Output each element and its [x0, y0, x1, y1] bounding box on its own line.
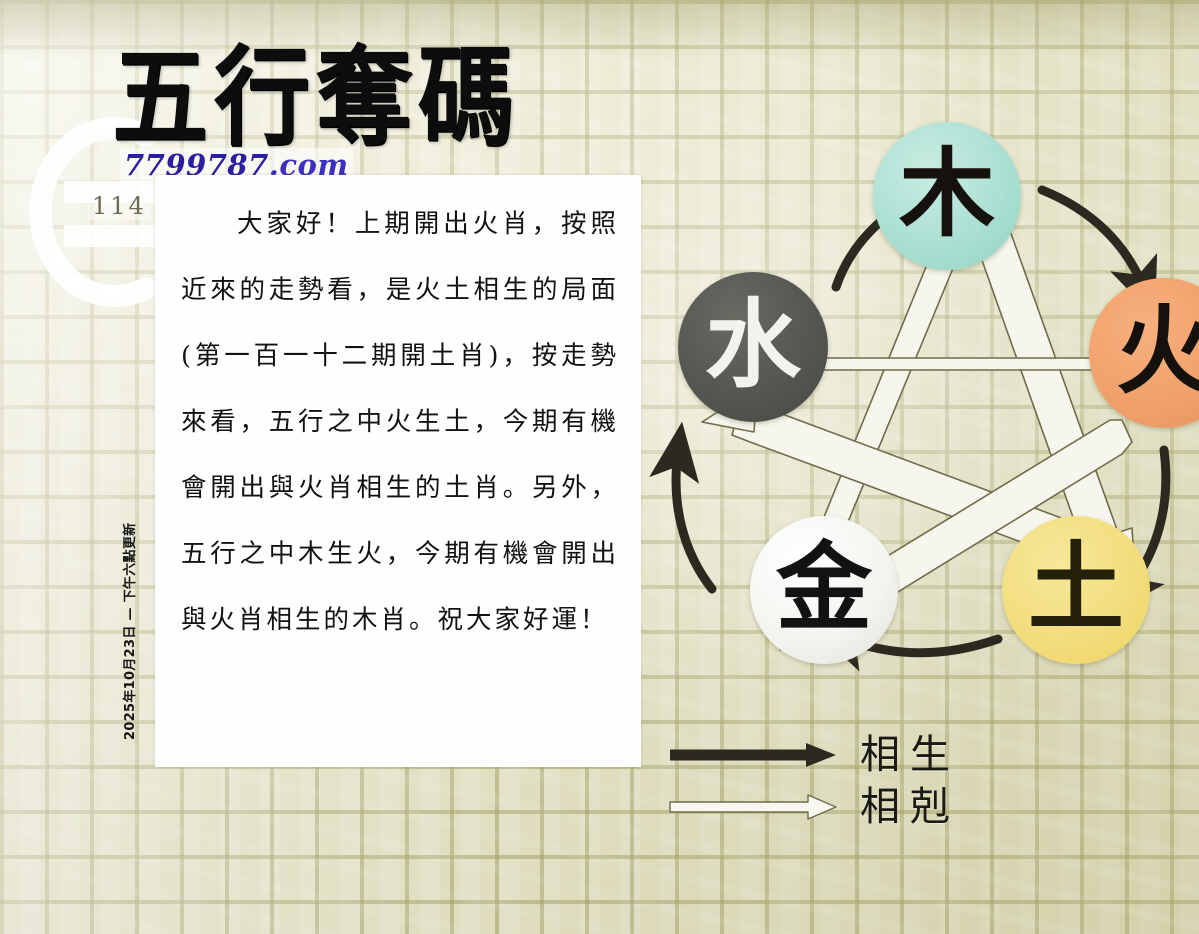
element-label-water: 水	[705, 297, 801, 393]
legend-arrow-generating-icon	[668, 742, 838, 768]
update-date-vertical: 2025年10月23日 — 下午六點更新	[119, 530, 141, 740]
diagram-legend: 相生 相剋	[668, 725, 998, 835]
article-panel: 大家好！上期開出火肖，按照近來的走勢看，是火土相生的局面(第一百一十二期開土肖)…	[155, 175, 641, 767]
legend-arrow-overcoming-icon	[668, 794, 838, 820]
element-label-metal: 金	[776, 540, 872, 636]
page-title: 五行奪碼	[112, 44, 520, 152]
legend-label-generating: 相生	[860, 735, 960, 775]
element-label-wood: 木	[899, 146, 995, 242]
element-node-wood[interactable]: 木	[873, 122, 1021, 270]
poster-canvas: 五行奪碼 7799787.com 114 2025年10月23日 — 下午六點更…	[0, 0, 1199, 934]
article-body: 大家好！上期開出火肖，按照近來的走勢看，是火土相生的局面(第一百一十二期開土肖)…	[181, 191, 619, 653]
element-node-water[interactable]: 水	[678, 272, 828, 422]
legend-row-overcoming: 相剋	[668, 787, 960, 827]
legend-label-overcoming: 相剋	[860, 787, 960, 827]
element-node-earth[interactable]: 土	[1002, 516, 1150, 664]
legend-row-generating: 相生	[668, 735, 960, 775]
element-label-earth: 土	[1028, 540, 1124, 636]
element-label-fire: 火	[1116, 303, 1199, 399]
issue-number: 114	[88, 192, 151, 220]
element-node-metal[interactable]: 金	[750, 516, 898, 664]
